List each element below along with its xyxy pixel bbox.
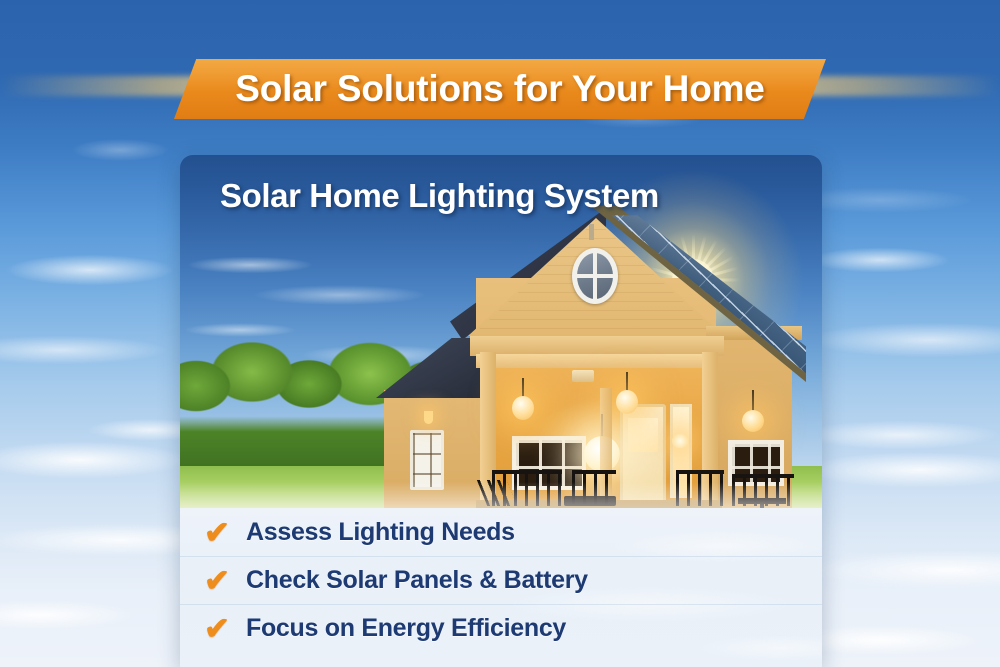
checklist-item-label: Assess Lighting Needs — [246, 518, 515, 547]
porch-railing-top — [492, 470, 562, 474]
ceiling-fixture — [572, 370, 594, 382]
checklist-item-2[interactable]: ✔ Check Solar Panels & Battery — [180, 556, 822, 604]
porch-railing-top — [676, 470, 724, 474]
ground-haze — [180, 482, 822, 508]
roof-vent — [589, 224, 594, 240]
poster-page: Solar Solutions for Your Home — [0, 0, 1000, 667]
light-bulb-icon — [424, 411, 433, 424]
card-title: Solar Home Lighting System — [220, 177, 659, 215]
checklist-item-label: Focus on Energy Efficiency — [246, 614, 566, 643]
porch-railing-top — [572, 470, 616, 474]
check-icon: ✔ — [204, 613, 230, 644]
checklist-item-3[interactable]: ✔ Focus on Energy Efficiency — [180, 604, 822, 652]
light-bulb-icon — [742, 410, 764, 432]
light-bulb-icon — [512, 396, 534, 420]
solar-system-card: Solar Home Lighting System ✔ Assess Ligh… — [180, 155, 822, 667]
checklist-item-label: Check Solar Panels & Battery — [246, 566, 588, 595]
porch-beam — [470, 336, 724, 356]
check-icon: ✔ — [204, 565, 230, 596]
checklist-item-1[interactable]: ✔ Assess Lighting Needs — [180, 508, 822, 556]
attic-window-mullion-h — [577, 274, 613, 278]
check-icon: ✔ — [204, 517, 230, 548]
porch-ceiling — [476, 354, 718, 368]
left-wing-window — [410, 430, 444, 490]
house-icon — [376, 208, 822, 508]
checklist-panel: ✔ Assess Lighting Needs ✔ Check Solar Pa… — [180, 508, 822, 667]
front-door-glass — [628, 418, 658, 452]
banner-ribbon: Solar Solutions for Your Home — [174, 59, 826, 119]
porch-railing-top — [732, 474, 794, 478]
light-bulb-icon — [616, 390, 638, 414]
banner-title: Solar Solutions for Your Home — [174, 59, 826, 119]
light-bulb-icon — [672, 434, 688, 448]
